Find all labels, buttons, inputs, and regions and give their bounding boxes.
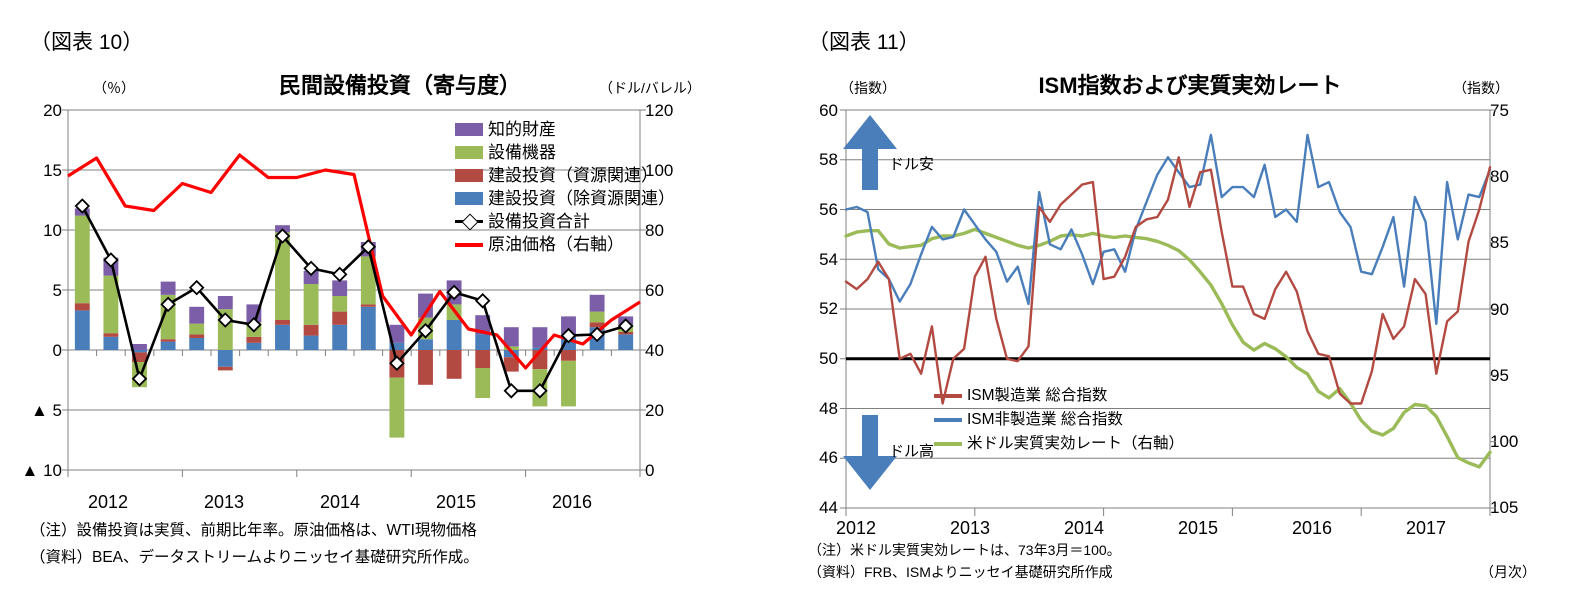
legend-swatch	[455, 146, 483, 159]
legend-label: 建設投資（資源関連）	[488, 166, 658, 185]
figure-11-note-1: （注）米ドル実質実効レートは、73年3月＝100。	[808, 540, 1121, 560]
figure-11-note-2: （資料）FRB、ISMよりニッセイ基礎研究所作成	[808, 562, 1113, 582]
legend-item-intellectual-property: 知的財産	[455, 118, 675, 141]
legend-label: 米ドル実質実効レート（右軸）	[967, 434, 1184, 453]
x-axis-tick: 2014	[290, 492, 390, 513]
x-axis-tick: 2012	[806, 518, 906, 539]
legend-swatch	[455, 123, 483, 136]
x-axis-tick: 2016	[1262, 518, 1362, 539]
legend-item-capex-total: 設備投資合計	[455, 210, 675, 233]
x-axis-tick: 2013	[920, 518, 1020, 539]
figure-10-note-2: （資料）BEA、データストリームよりニッセイ基礎研究所作成。	[30, 545, 479, 567]
legend-label: 設備投資合計	[488, 212, 590, 231]
figure-10-legend: 知的財産 設備機器 建設投資（資源関連） 建設投資（除資源関連） 設備投資合計 …	[455, 118, 675, 256]
legend-swatch	[455, 169, 483, 182]
legend-item-real-effective-rate: 米ドル実質実効レート（右軸）	[934, 431, 1184, 455]
figure-10-panel: （図表 10） 民間設備投資（寄与度） （％） （ドル/バレル） 20 15 1…	[0, 0, 790, 611]
legend-label: ISM製造業 総合指数	[967, 386, 1107, 405]
x-axis-tick: 2012	[58, 492, 158, 513]
figure-11-legend: ISM製造業 総合指数 ISM非製造業 総合指数 米ドル実質実効レート（右軸）	[934, 383, 1184, 455]
legend-item-construction-nonresource: 建設投資（除資源関連）	[455, 187, 675, 210]
dollar-weak-label: ドル安	[889, 153, 934, 174]
legend-line-icon	[934, 437, 962, 450]
figure-10-note-1: （注）設備投資は実質、前期比年率。原油価格は、WTI現物価格	[30, 518, 477, 540]
legend-item-ism-manufacturing: ISM製造業 総合指数	[934, 383, 1184, 407]
legend-item-equipment: 設備機器	[455, 141, 675, 164]
legend-item-ism-nonmanufacturing: ISM非製造業 総合指数	[934, 407, 1184, 431]
dollar-strong-label: ドル高	[889, 440, 934, 461]
x-axis-tick: 2013	[174, 492, 274, 513]
figure-11-frequency-label: （月次）	[1480, 562, 1536, 582]
legend-label: 知的財産	[488, 120, 556, 139]
legend-line-marker-icon	[455, 215, 483, 228]
legend-line-icon	[934, 389, 962, 402]
legend-label: 建設投資（除資源関連）	[488, 189, 675, 208]
legend-swatch	[455, 192, 483, 205]
figure-11-panel: （図表 11） ISM指数および実質実効レート （指数） （指数） 60 58 …	[790, 0, 1571, 611]
x-axis-tick: 2017	[1376, 518, 1476, 539]
legend-item-oil-price: 原油価格（右軸）	[455, 233, 675, 256]
x-axis-tick: 2014	[1034, 518, 1134, 539]
legend-line-icon	[455, 238, 483, 251]
legend-label: 設備機器	[488, 143, 556, 162]
legend-label: ISM非製造業 総合指数	[967, 410, 1123, 429]
x-axis-tick: 2016	[522, 492, 622, 513]
legend-label: 原油価格（右軸）	[488, 235, 624, 254]
legend-item-construction-resource: 建設投資（資源関連）	[455, 164, 675, 187]
x-axis-tick: 2015	[406, 492, 506, 513]
legend-line-icon	[934, 413, 962, 426]
x-axis-tick: 2015	[1148, 518, 1248, 539]
